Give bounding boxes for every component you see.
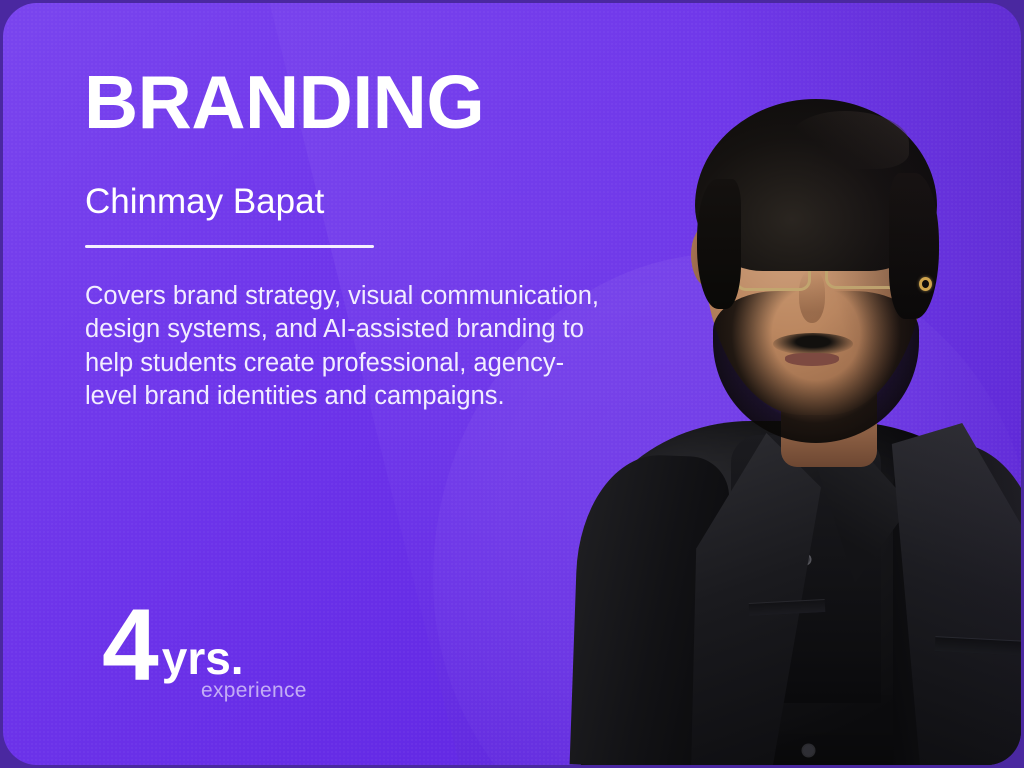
nose	[799, 271, 825, 323]
ear-left	[691, 225, 725, 287]
course-description: Covers brand strategy, visual communicat…	[85, 280, 610, 414]
jacket-lapel-left	[691, 433, 821, 765]
experience-badge: 4 yrs. experience	[84, 601, 404, 721]
black-shirt	[731, 435, 881, 703]
suit-jacket-body	[581, 421, 1021, 765]
eyebrow-left	[738, 226, 795, 246]
hair-top	[695, 99, 937, 271]
beard	[713, 291, 919, 443]
eyeglasses-temple-left	[703, 245, 737, 252]
card-content: BRANDING Chinmay Bapat Covers brand stra…	[84, 3, 644, 765]
eyeglasses-bridge	[809, 245, 827, 248]
eyeglasses-lens-right	[825, 232, 903, 289]
eye-left	[753, 255, 785, 269]
card-stage: BRANDING Chinmay Bapat Covers brand stra…	[0, 0, 1024, 768]
eyeglasses-lens-left	[735, 235, 811, 291]
hair-highlight	[791, 111, 909, 169]
experience-years-number: 4	[102, 601, 156, 691]
pupil-left	[764, 255, 777, 268]
instructor-card: BRANDING Chinmay Bapat Covers brand stra…	[3, 3, 1021, 765]
eye-right	[843, 253, 875, 267]
ear-right	[901, 223, 937, 289]
hair-side-left	[697, 179, 741, 309]
shirt-collar-left	[735, 433, 831, 579]
jacket-pocket-right	[935, 636, 1021, 657]
neck-shadow	[781, 375, 877, 433]
experience-badge-row: 4 yrs.	[102, 601, 244, 691]
pupil-right	[852, 253, 865, 266]
shirt-collar-right	[807, 433, 911, 583]
face-shading	[703, 123, 927, 415]
instructor-name: Chinmay Bapat	[85, 183, 324, 222]
experience-caption: experience	[201, 679, 307, 703]
jacket-pocket-left	[749, 599, 826, 616]
jacket-lapel-right	[863, 423, 1021, 765]
hair-side-right	[889, 173, 939, 319]
title-divider	[85, 245, 374, 248]
suit-right-shoulder	[893, 443, 1021, 765]
moustache	[773, 333, 853, 355]
shirt-button-lower	[803, 745, 814, 756]
neck	[781, 375, 877, 467]
eyeglasses-temple-right	[899, 242, 935, 248]
page-title: BRANDING	[84, 65, 484, 140]
mouth	[785, 353, 839, 366]
shirt-button-upper	[801, 555, 810, 564]
gold-hoop-earring-icon	[919, 277, 932, 291]
face	[703, 123, 927, 415]
eyebrow-right	[830, 222, 889, 241]
